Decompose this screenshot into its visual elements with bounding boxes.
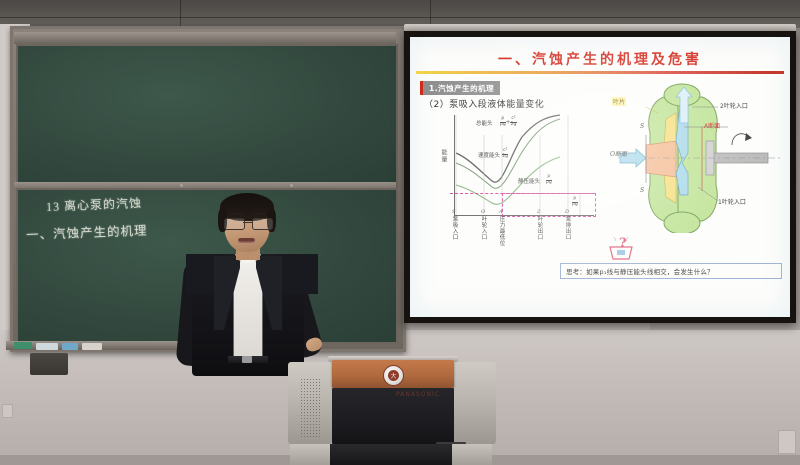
tray-item-marker[interactable] bbox=[62, 343, 78, 350]
chart-annot-static: 静压能头 bbox=[518, 177, 540, 185]
podium-speaker-left bbox=[288, 362, 332, 444]
classroom-scene: 13 离心泵的汽蚀 一、汽蚀产生的机理 一、汽蚀产生的机理及危害 1.汽蚀产生的… bbox=[0, 0, 800, 465]
podium-base bbox=[326, 444, 460, 465]
svg-text:?: ? bbox=[619, 236, 627, 251]
rail-screw bbox=[180, 184, 183, 187]
glasses-lens-right bbox=[252, 218, 273, 230]
question-text: 思考：如果p₁线与静压能头线相交，会发生什么？ bbox=[566, 266, 714, 276]
shoulder-right bbox=[278, 254, 318, 294]
question-mark-icon: ? bbox=[606, 233, 636, 261]
podium-speaker-right bbox=[452, 362, 496, 444]
chart-annot-total: 总能头 bbox=[476, 119, 493, 127]
emblem-glyph: 大 bbox=[388, 370, 399, 381]
glasses-lens-left bbox=[224, 218, 245, 230]
tray-item-chalk[interactable] bbox=[36, 343, 58, 350]
chart-formula-total: pρg+c²2g bbox=[500, 117, 517, 127]
university-emblem: 大 bbox=[383, 365, 404, 386]
chart-formula-static: pρg bbox=[546, 175, 552, 185]
belt-buckle bbox=[242, 356, 252, 363]
chart-xtick-1: O bbox=[481, 209, 485, 215]
podium-brand-label: PANASONIC bbox=[396, 391, 440, 398]
chart-annot-velocity: 速度能头 bbox=[478, 151, 500, 159]
chart-xtick-3: 2 bbox=[537, 209, 540, 215]
chart-xtick-0: S bbox=[452, 209, 455, 215]
tray-item-chalk[interactable] bbox=[82, 343, 102, 350]
tray-item-eraser[interactable] bbox=[14, 342, 32, 349]
chart-formula-velocity: c²2g bbox=[502, 149, 508, 159]
lecture-podium[interactable]: 大 PANASONIC bbox=[286, 354, 498, 465]
label-s-lower: S bbox=[640, 187, 644, 194]
label-section-a: A断面 bbox=[704, 121, 720, 130]
chart-xlabel-0: 泵吸入口 bbox=[451, 216, 457, 240]
chart-xlabel-1: 叶轮入口 bbox=[480, 216, 486, 240]
projection-screen[interactable]: 一、汽蚀产生的机理及危害 1.汽蚀产生的机理 （2）泵吸入段液体能量变化 能量 bbox=[404, 31, 796, 323]
blackboard-top-rail bbox=[14, 32, 396, 44]
wall-plate[interactable] bbox=[778, 430, 796, 454]
chart-xlabel-3: 叶轮出口 bbox=[536, 216, 542, 240]
slide-section-tag: 1.汽蚀产生的机理 bbox=[420, 81, 500, 95]
label-impeller-inlet-2: 2叶轮入口 bbox=[720, 101, 748, 110]
title-underline bbox=[416, 71, 784, 74]
slide-subheading: （2）泵吸入段液体能量变化 bbox=[424, 97, 544, 110]
chart-reference-box bbox=[502, 193, 596, 217]
label-blade: 叶片 bbox=[612, 97, 626, 106]
power-outlet[interactable] bbox=[2, 404, 13, 418]
mouth bbox=[238, 238, 255, 243]
pump-svg bbox=[606, 83, 784, 233]
slide-surface: 一、汽蚀产生的机理及危害 1.汽蚀产生的机理 （2）泵吸入段液体能量变化 能量 bbox=[410, 37, 790, 317]
question-callout-box: 思考：如果p₁线与静压能头线相交，会发生什么？ bbox=[560, 263, 782, 279]
rail-screw bbox=[290, 184, 293, 187]
label-impeller-inlet-1: 1叶轮入口 bbox=[718, 197, 746, 206]
podium-foot-right bbox=[452, 444, 492, 465]
slide-title: 一、汽蚀产生的机理及危害 bbox=[410, 49, 790, 69]
pump-cross-section-diagram: 叶片 2叶轮入口 1叶轮入口 O断面 A断面 S S bbox=[606, 83, 784, 233]
chart-bracket-annot: pρg bbox=[572, 197, 578, 207]
chart-xlabel-2: 压力最低位 bbox=[498, 216, 504, 246]
glasses-bridge bbox=[243, 222, 252, 223]
energy-chart: 能量 总能头 pρg bbox=[440, 115, 595, 235]
speaker-grille-icon bbox=[300, 378, 322, 438]
ceiling-seam bbox=[0, 17, 800, 18]
label-section-o: O断面 bbox=[610, 149, 627, 158]
chart-xlabel-4: 泵排出口 bbox=[564, 216, 570, 240]
eyeglasses-icon bbox=[224, 218, 271, 228]
chart-xtick-2: A bbox=[499, 209, 503, 215]
chart-xtick-4: D bbox=[565, 209, 569, 215]
lecturer bbox=[178, 196, 326, 376]
hair bbox=[220, 193, 274, 221]
podium-foot-left bbox=[290, 444, 330, 465]
blackboard-control-box[interactable] bbox=[30, 353, 68, 375]
chart-curves bbox=[440, 115, 595, 235]
blackboard-panel-upper[interactable] bbox=[16, 44, 398, 188]
label-s-upper: S bbox=[640, 123, 644, 130]
